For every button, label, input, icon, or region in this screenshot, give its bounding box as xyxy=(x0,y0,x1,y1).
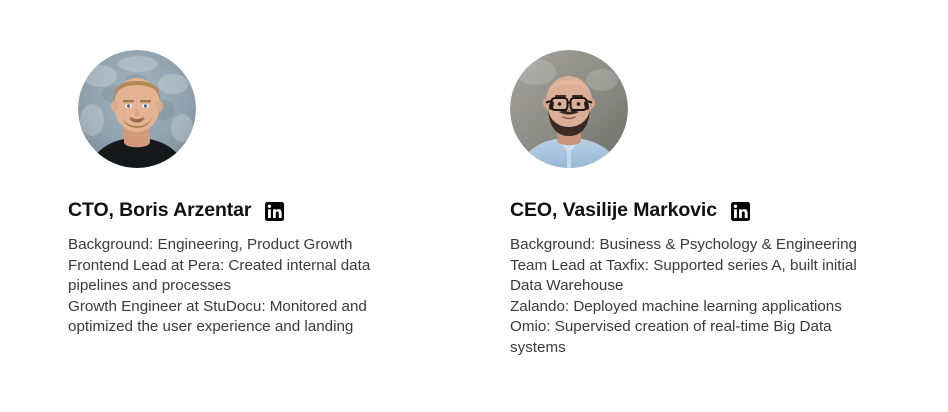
team-members-section: CTO, Boris Arzentar Background: Engineer… xyxy=(0,0,948,412)
avatar xyxy=(78,50,196,168)
linkedin-icon[interactable] xyxy=(265,202,284,221)
member-name-row: CEO, Vasilije Markovic xyxy=(510,196,750,224)
avatar xyxy=(510,50,628,168)
member-bio: Background: Business & Psychology & Engi… xyxy=(510,235,862,359)
member-name: CTO, Boris Arzentar xyxy=(68,196,251,224)
bio-line: Frontend Lead at Pera: Created internal … xyxy=(68,256,418,297)
bio-line: Background: Engineering, Product Growth xyxy=(68,235,418,256)
team-member-card: CEO, Vasilije Markovic Background: Busin… xyxy=(510,0,930,412)
member-bio: Background: Engineering, Product Growth … xyxy=(68,235,418,338)
bio-line: Background: Business & Psychology & Engi… xyxy=(510,235,862,256)
member-name-row: CTO, Boris Arzentar xyxy=(68,196,284,224)
linkedin-icon[interactable] xyxy=(731,202,750,221)
bio-line: Zalando: Deployed machine learning appli… xyxy=(510,297,862,318)
bio-line: Team Lead at Taxfix: Supported series A,… xyxy=(510,256,862,297)
bio-line: Omio: Supervised creation of real-time B… xyxy=(510,317,862,358)
team-member-card: CTO, Boris Arzentar Background: Engineer… xyxy=(68,0,488,412)
member-name: CEO, Vasilije Markovic xyxy=(510,196,717,224)
bio-line: Growth Engineer at StuDocu: Monitored an… xyxy=(68,297,418,338)
avatar-photo-vasilije xyxy=(510,50,628,168)
avatar-photo-boris xyxy=(78,50,196,168)
